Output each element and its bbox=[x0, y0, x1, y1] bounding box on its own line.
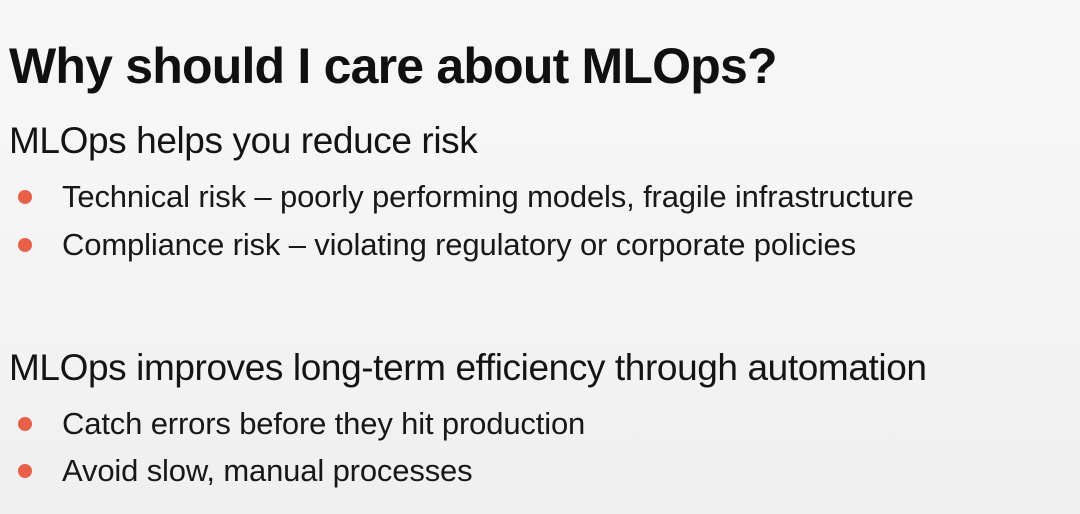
list-item-label: Compliance risk – violating regulatory o… bbox=[62, 227, 856, 263]
bullet-dot-icon bbox=[18, 238, 32, 252]
list-item: Avoid slow, manual processes bbox=[0, 447, 1080, 494]
bullet-list: Catch errors before they hit production … bbox=[0, 400, 1080, 494]
bullet-dot-icon bbox=[18, 190, 32, 204]
list-item: Technical risk – poorly performing model… bbox=[0, 173, 1080, 221]
bullet-dot-icon bbox=[18, 417, 32, 431]
list-item: Compliance risk – violating regulatory o… bbox=[0, 221, 1080, 269]
section-heading: MLOps improves long-term efficiency thro… bbox=[9, 346, 1080, 390]
list-item-label: Catch errors before they hit production bbox=[62, 406, 585, 442]
bullet-list: Technical risk – poorly performing model… bbox=[0, 173, 1080, 269]
section-efficiency: MLOps improves long-term efficiency thro… bbox=[0, 346, 1080, 494]
list-item-label: Avoid slow, manual processes bbox=[62, 453, 473, 489]
section-heading: MLOps helps you reduce risk bbox=[9, 119, 1080, 163]
list-item: Catch errors before they hit production bbox=[0, 400, 1080, 447]
page-title: Why should I care about MLOps? bbox=[9, 38, 777, 95]
bullet-dot-icon bbox=[18, 464, 32, 478]
list-item-label: Technical risk – poorly performing model… bbox=[62, 179, 914, 215]
section-reduce-risk: MLOps helps you reduce risk Technical ri… bbox=[0, 119, 1080, 269]
presentation-slide: Why should I care about MLOps? MLOps hel… bbox=[0, 0, 1080, 514]
